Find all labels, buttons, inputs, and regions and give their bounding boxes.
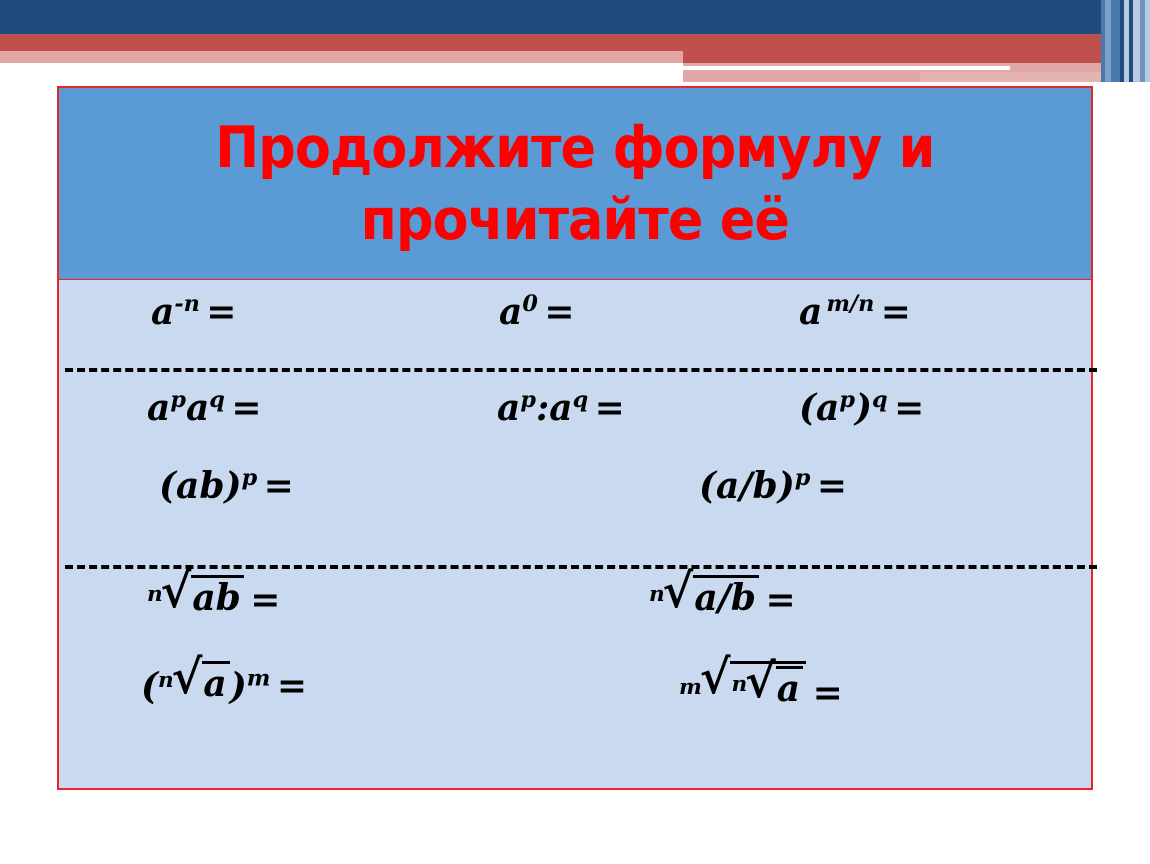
formula-separator-1 [65, 368, 1097, 372]
radical-group-outer: m√n√a [679, 662, 806, 709]
formula-equals: = [264, 465, 294, 507]
formula-base: a [186, 387, 209, 429]
radical-sign-icon: √ [745, 664, 776, 701]
top-decorative-banner [0, 0, 1150, 90]
radical-group: n√ab [147, 576, 244, 617]
radicand: a/b [693, 575, 759, 616]
formula-equals: = [544, 291, 574, 333]
decor-vertical-stripe-7 [1133, 0, 1140, 82]
formula-exponent: m/n [826, 291, 874, 317]
formula-base: a [816, 387, 839, 429]
decor-band-red-left [0, 34, 683, 51]
radicand-inner: a [776, 666, 803, 707]
formula-equals: = [277, 665, 307, 707]
formula-lparen: ( [159, 465, 176, 507]
radical-group: n√a/b [649, 576, 759, 617]
formula-ap-times-aq: apaq= [147, 390, 262, 426]
radical-sign-icon: √ [663, 574, 694, 611]
formula-base: a [799, 291, 822, 333]
radical-group: n√a [158, 662, 230, 703]
formula-exponent: p [795, 465, 811, 491]
formula-a-zero: a0= [499, 294, 575, 330]
radical-group-inner: n√a [731, 666, 803, 707]
decor-band-navy [0, 0, 1150, 34]
formula-exponent: p [839, 387, 855, 413]
formula-ap-power-q: (ap)q= [799, 390, 924, 426]
formula-exponent: p [170, 387, 186, 413]
page-title-line-2: прочитайте её [361, 184, 789, 256]
decor-vertical-stripe-3 [1111, 0, 1120, 82]
formula-ab-power-p: (ab)p= [159, 468, 294, 504]
formula-mth-root-of-nth-root-a: m√n√a = [679, 662, 843, 711]
formula-exponent: q [573, 387, 589, 413]
decor-band-pink-left [0, 51, 683, 63]
formula-equals: = [595, 387, 625, 429]
formula-a-neg-n: a-n= [151, 294, 236, 330]
formula-base: a [497, 387, 520, 429]
formula-separator-2 [65, 565, 1097, 569]
formula-exponent: 0 [522, 291, 538, 317]
formula-exponent: p [520, 387, 536, 413]
formula-base: a [499, 291, 522, 333]
formula-equals: = [817, 465, 847, 507]
formula-colon: : [536, 387, 549, 429]
formula-rparen: ) [778, 465, 795, 507]
formula-nth-root-a-over-b: n√a/b = [649, 576, 796, 618]
formula-base: ab [176, 465, 225, 507]
formula-lparen: ( [699, 465, 716, 507]
radical-sign-icon: √ [172, 660, 203, 697]
decor-band-red-right [683, 34, 1150, 63]
formula-equals: = [881, 291, 911, 333]
formula-lparen: ( [141, 665, 158, 707]
formula-lparen: ( [799, 387, 816, 429]
formula-list: a-n= a0= am/n= apaq= ap:aq= (ap)q= [59, 280, 1091, 788]
formula-equals: = [894, 387, 924, 429]
formula-rparen: ) [855, 387, 872, 429]
radicand-outer: n√a [730, 661, 806, 708]
formula-nth-root-a-power-m: ( n√a )m= [141, 662, 307, 704]
slide-card: Продолжите формулу и прочитайте её a-n= … [57, 86, 1093, 790]
formula-exponent: q [209, 387, 225, 413]
formula-base: a [151, 291, 174, 333]
formula-exponent: p [242, 465, 258, 491]
formula-rparen: ) [230, 665, 247, 707]
formula-equals: = [206, 291, 236, 333]
radical-sign-icon: √ [161, 574, 192, 611]
radicand: a [202, 661, 229, 702]
slide-title-banner: Продолжите формулу и прочитайте её [59, 88, 1091, 280]
formula-equals: = [765, 579, 795, 621]
decor-band-white-line [683, 66, 1010, 70]
formula-ap-divided-aq: ap:aq= [497, 390, 625, 426]
formula-base: a [147, 387, 170, 429]
formula-rparen: ) [225, 465, 242, 507]
formula-equals: = [231, 387, 261, 429]
formula-a-over-b-power-p: (a/b)p= [699, 468, 847, 504]
page-title-line-1: Продолжите формулу и [215, 112, 934, 184]
radical-sign-icon: √ [700, 660, 731, 697]
decor-vertical-stripe-9 [1145, 0, 1150, 82]
formula-exponent: q [872, 387, 888, 413]
formula-exponent: m [247, 665, 271, 691]
formula-a-m-over-n: am/n= [799, 294, 911, 330]
radical-index-outer: m [679, 677, 702, 699]
formula-equals: = [813, 672, 843, 714]
formula-base: a [549, 387, 572, 429]
radicand: ab [191, 575, 244, 616]
formula-exponent: -n [174, 291, 199, 317]
formula-equals: = [250, 579, 280, 621]
formula-base: a/b [716, 465, 778, 507]
formula-nth-root-ab: n√ab = [147, 576, 280, 618]
